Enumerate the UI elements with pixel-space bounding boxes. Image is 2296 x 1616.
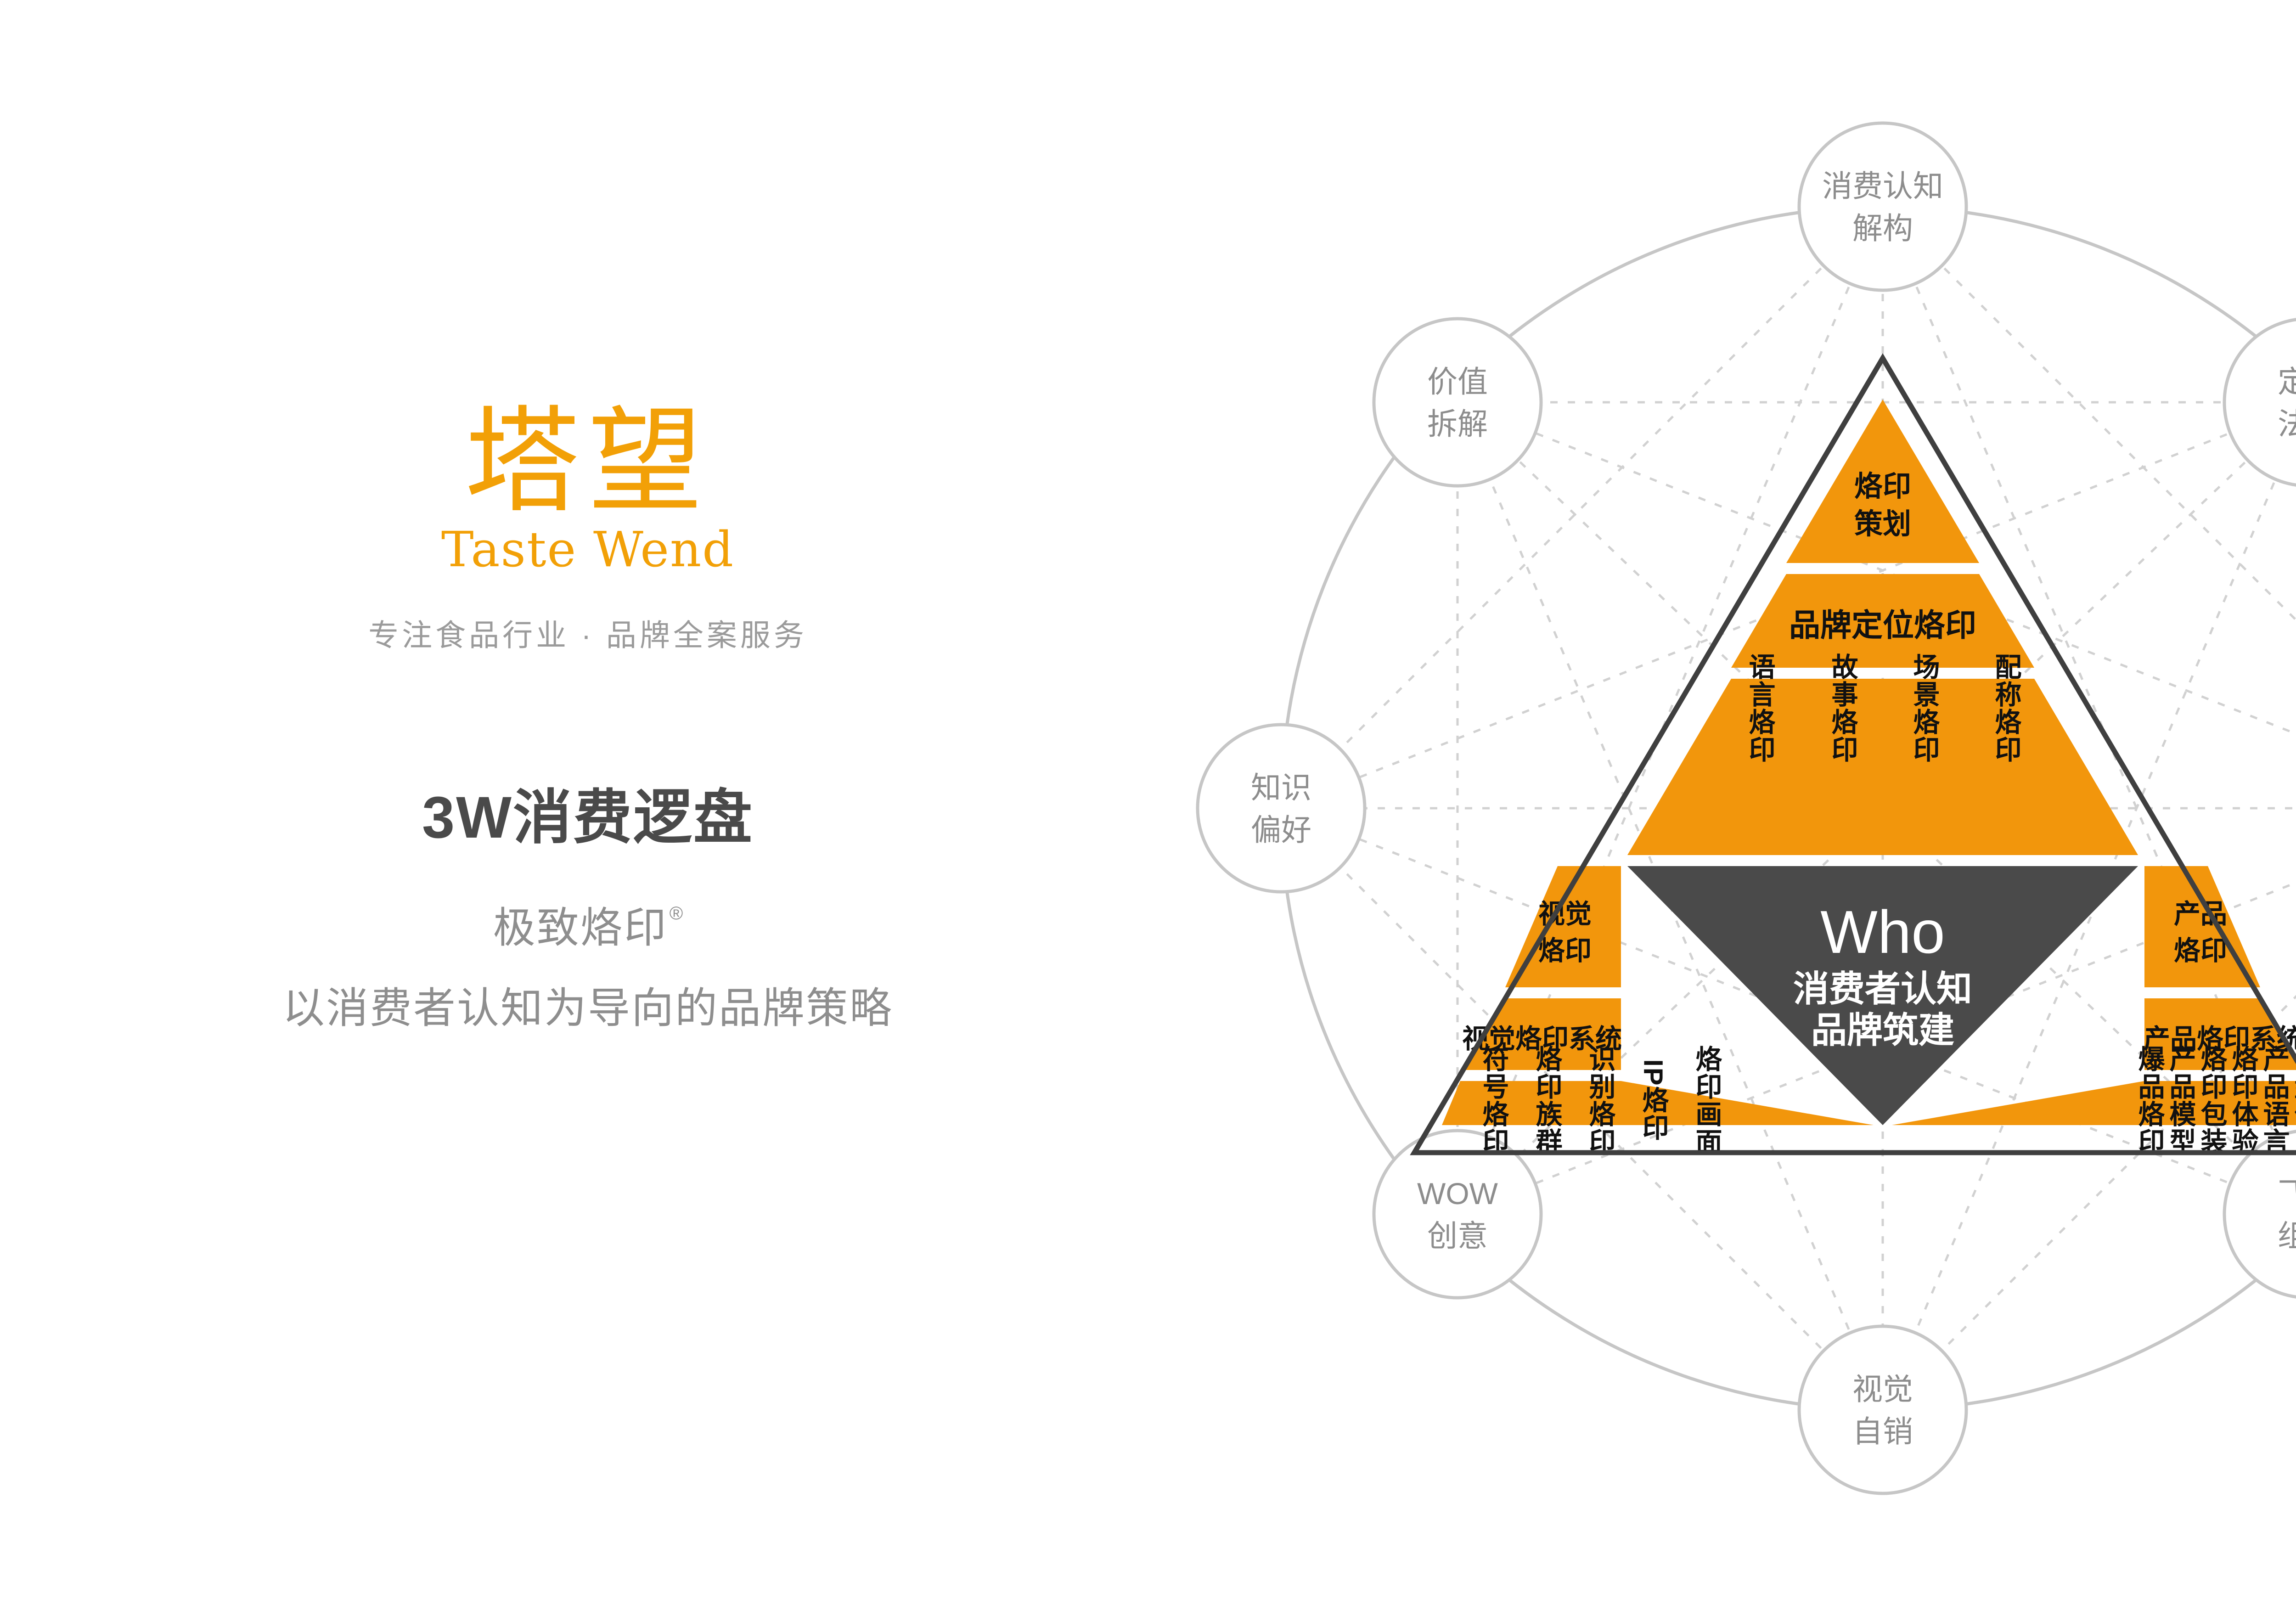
tier-three-item-0: 语言烙印 [1745, 653, 1776, 763]
node-visual-selling-line2: 自销 [1852, 1414, 1913, 1448]
tier-three-shape [1627, 679, 2138, 855]
node-positioning-rule-line1: 定位 [2278, 365, 2296, 399]
node-consumer-cognition-line1: 消费认知 [1822, 169, 1943, 203]
node-circle-wow-creative [1374, 1131, 1541, 1298]
page-root: 塔望 Taste Wend 专注食品行业 · 品牌全案服务 3W消费逻盘 极致烙… [0, 0, 2296, 1616]
registered-mark-icon: ® [670, 903, 684, 923]
page-title: 3W消费逻盘 [0, 770, 1176, 855]
brand-panel: 塔望 Taste Wend 专注食品行业 · 品牌全案服务 3W消费逻盘 极致烙… [0, 404, 1176, 1035]
node-positioning-rule-line2: 法则 [2278, 407, 2296, 441]
right-apex-line2: 烙印 [2174, 936, 2227, 966]
node-consumer-cognition-line2: 解构 [1852, 211, 1913, 245]
tier-three-item-3: 配称烙印 [1991, 653, 2022, 763]
core-line1: 消费者认知 [1793, 968, 1972, 1009]
subtitle-secondary: 以消费者认知为导向的品牌策略 [0, 974, 1176, 1035]
node-airplane-combo-line2: 组合 [2278, 1219, 2296, 1253]
left-apex-line2: 烙印 [1538, 936, 1592, 966]
right-item-3: 烙印体验 [2228, 1045, 2259, 1155]
left-item-4: 烙印画面 [1692, 1045, 1722, 1155]
tier-top-line1: 烙印 [1854, 471, 1911, 502]
brand-tagline: 专注食品行业 · 品牌全案服务 [0, 611, 1176, 655]
left-item-0: 符号烙印 [1479, 1045, 1509, 1155]
node-circle-visual-selling [1799, 1326, 1966, 1493]
tier-two-label: 品牌定位烙印 [1789, 608, 1976, 643]
left-item-3: IP烙印 [1638, 1059, 1669, 1142]
node-value-breakdown-line1: 价值 [1427, 365, 1488, 399]
right-item-4: 产品语言 [2259, 1045, 2290, 1155]
node-value-breakdown-line2: 拆解 [1427, 407, 1488, 441]
node-circle-positioning-rule [2224, 319, 2296, 486]
node-circle-knowledge-pref [1198, 725, 1365, 892]
tier-three-item-2: 场景烙印 [1909, 653, 1940, 763]
node-circle-value-breakdown [1374, 319, 1541, 486]
right-item-1: 产品模型 [2166, 1045, 2196, 1155]
left-item-1: 烙印族群 [1532, 1045, 1563, 1155]
node-circle-airplane-combo [2224, 1131, 2296, 1298]
right-item-0: 爆品烙印 [2134, 1045, 2165, 1155]
node-circle-consumer-cognition [1799, 123, 1966, 290]
node-knowledge-pref-line2: 偏好 [1251, 813, 1311, 847]
right-item-2: 烙印包装 [2197, 1045, 2228, 1155]
brand-logo: 塔望 Taste Wend [441, 404, 734, 574]
tier-three-item-1: 故事烙印 [1828, 653, 1858, 763]
3w-pyramid-diagram: 消费认知 解构 定位 法则 单点 破局 飞机 组合 视觉 自销 WOW 创意 知… [1148, 37, 2296, 1575]
node-airplane-combo-line1: 飞机 [2278, 1177, 2296, 1211]
node-visual-selling-line1: 视觉 [1852, 1372, 1913, 1406]
node-wow-creative-line1: WOW [1417, 1177, 1498, 1211]
tier-top-line2: 策划 [1854, 508, 1911, 540]
logo-chinese-name: 塔望 [441, 404, 734, 519]
node-knowledge-pref-line1: 知识 [1251, 771, 1311, 805]
left-item-2: 识别烙印 [1585, 1045, 1616, 1155]
node-wow-creative-line2: 创意 [1427, 1219, 1488, 1253]
core-title: Who [1820, 898, 1945, 966]
subtitle-primary: 极致烙印® [493, 894, 683, 955]
core-line2: 品牌筑建 [1811, 1010, 1954, 1050]
logo-english-name: Taste Wend [441, 525, 734, 574]
subtitle-primary-text: 极致烙印 [493, 905, 668, 952]
